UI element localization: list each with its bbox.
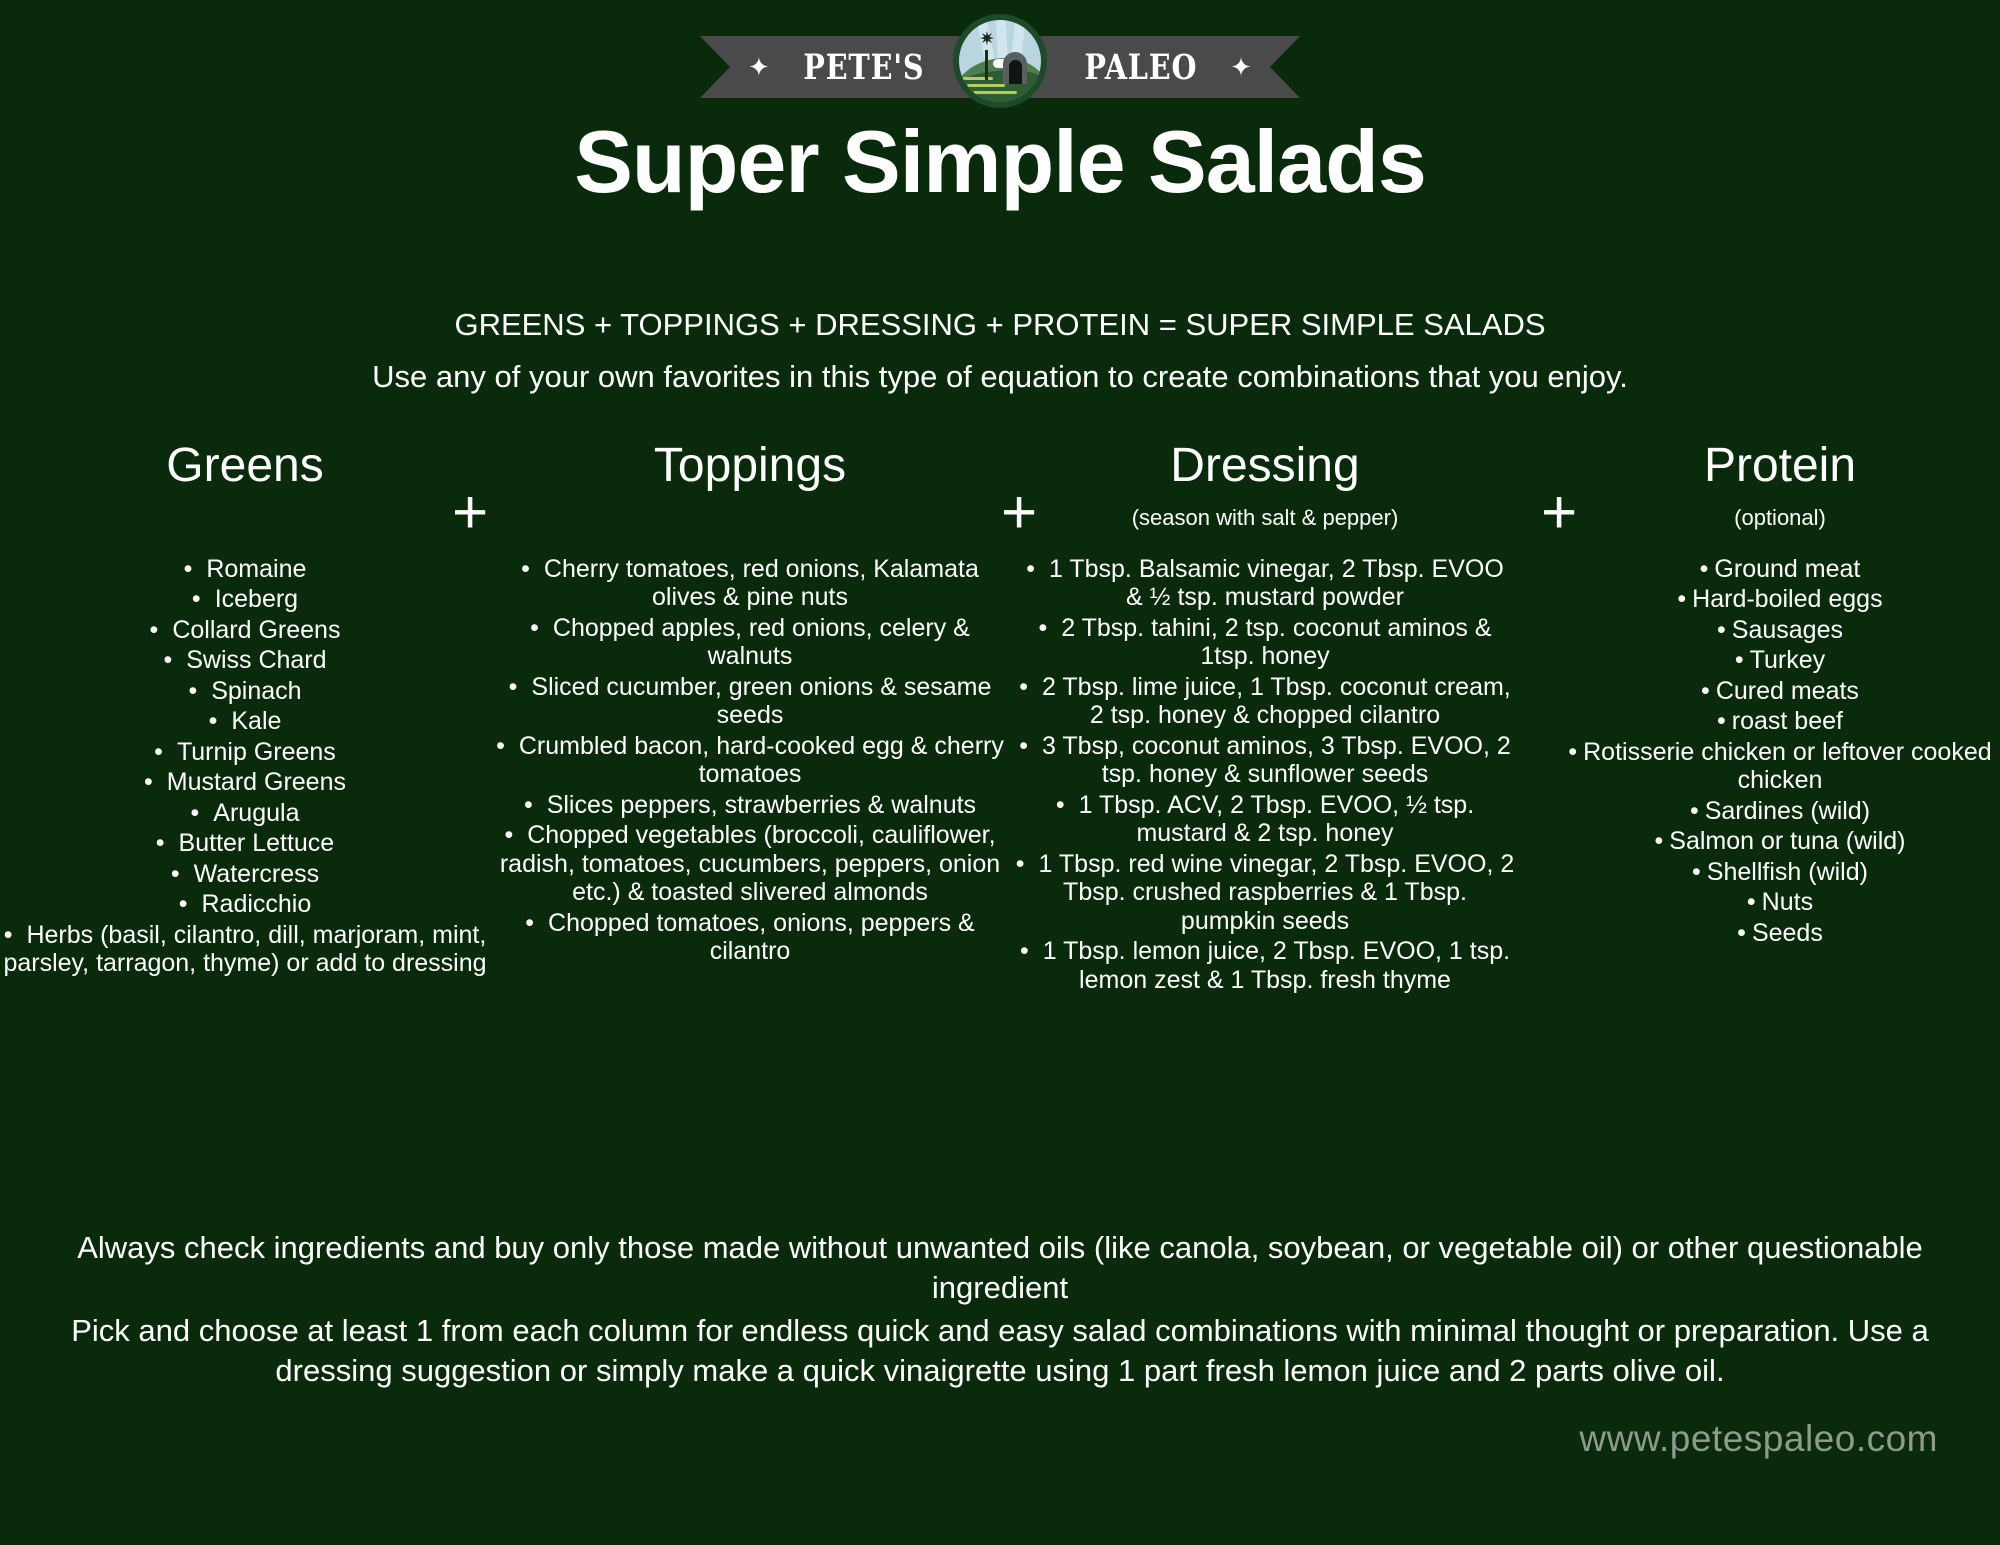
list-item: Mustard Greens xyxy=(0,768,490,797)
list-item: Sardines (wild) xyxy=(1560,797,2000,826)
list-item: Hard-boiled eggs xyxy=(1560,585,2000,614)
salad-infographic-page: ✦ PETE'S PALEO ✦ ✷ Super Simpl xyxy=(0,0,2000,1545)
footer-line-2: Pick and choose at least 1 from each col… xyxy=(40,1311,1960,1392)
page-title: Super Simple Salads xyxy=(0,116,2000,208)
column-subheading-toppings xyxy=(495,504,1005,533)
list-greens: Romaine Iceberg Collard Greens Swiss Cha… xyxy=(0,555,490,978)
column-heading-greens: Greens xyxy=(0,440,490,492)
column-heading-protein: Protein xyxy=(1560,440,2000,492)
list-item: 2 Tbsp. lime juice, 1 Tbsp. coconut crea… xyxy=(1015,673,1515,730)
list-item: Turnip Greens xyxy=(0,738,490,767)
list-item: Watercress xyxy=(0,860,490,889)
list-item: Cured meats xyxy=(1560,677,2000,706)
list-item: Collard Greens xyxy=(0,616,490,645)
list-item: roast beef xyxy=(1560,707,2000,736)
list-item: Butter Lettuce xyxy=(0,829,490,858)
list-item: Iceberg xyxy=(0,585,490,614)
star-left-icon: ✦ xyxy=(748,54,770,80)
column-subheading-dressing: (season with salt & pepper) xyxy=(1015,504,1515,533)
list-item: Seeds xyxy=(1560,919,2000,948)
column-heading-toppings: Toppings xyxy=(495,440,1005,492)
list-item: 1 Tbsp. lemon juice, 2 Tbsp. EVOO, 1 tsp… xyxy=(1015,937,1515,994)
list-item: Chopped vegetables (broccoli, cauliflowe… xyxy=(495,821,1005,907)
list-item: Shellfish (wild) xyxy=(1560,858,2000,887)
column-subheading-greens xyxy=(0,504,490,533)
list-item: Rotisserie chicken or leftover cooked ch… xyxy=(1560,738,2000,795)
column-greens: Greens Romaine Iceberg Collard Greens Sw… xyxy=(0,440,490,980)
ingredient-columns: Greens Romaine Iceberg Collard Greens Sw… xyxy=(0,440,2000,1160)
instruction-text: Use any of your own favorites in this ty… xyxy=(0,357,2000,397)
list-item: Kale xyxy=(0,707,490,736)
formula-equation: GREENS + TOPPINGS + DRESSING + PROTEIN =… xyxy=(0,305,2000,345)
brand-word-petes: PETE'S xyxy=(803,50,924,85)
list-item: Radicchio xyxy=(0,890,490,919)
column-heading-dressing: Dressing xyxy=(1015,440,1515,492)
column-protein: Protein (optional) Ground meat Hard-boil… xyxy=(1560,440,2000,949)
petes-paleo-logo: ✦ PETE'S PALEO ✦ ✷ xyxy=(700,14,1300,108)
list-protein: Ground meat Hard-boiled eggs Sausages Tu… xyxy=(1560,555,2000,948)
list-item: Romaine xyxy=(0,555,490,584)
list-item: 3 Tbsp, coconut aminos, 3 Tbsp. EVOO, 2 … xyxy=(1015,732,1515,789)
website-watermark: www.petespaleo.com xyxy=(1579,1420,1938,1457)
list-item: Nuts xyxy=(1560,888,2000,917)
star-right-icon: ✦ xyxy=(1230,54,1252,80)
list-toppings: Cherry tomatoes, red onions, Kalamata ol… xyxy=(495,555,1005,966)
farm-emblem-icon: ✷ xyxy=(953,14,1047,108)
list-item: 2 Tbsp. tahini, 2 tsp. coconut aminos & … xyxy=(1015,614,1515,671)
brand-word-paleo: PALEO xyxy=(1085,50,1198,85)
list-item: Arugula xyxy=(0,799,490,828)
list-item: Slices peppers, strawberries & walnuts xyxy=(495,791,1005,820)
footer-notes: Always check ingredients and buy only th… xyxy=(40,1228,1960,1393)
list-item: Swiss Chard xyxy=(0,646,490,675)
column-toppings: Toppings Cherry tomatoes, red onions, Ka… xyxy=(495,440,1005,968)
list-item: 1 Tbsp. ACV, 2 Tbsp. EVOO, ½ tsp. mustar… xyxy=(1015,791,1515,848)
list-item: Chopped tomatoes, onions, peppers & cila… xyxy=(495,909,1005,966)
list-item: Chopped apples, red onions, celery & wal… xyxy=(495,614,1005,671)
footer-line-1: Always check ingredients and buy only th… xyxy=(40,1228,1960,1309)
list-item: Sliced cucumber, green onions & sesame s… xyxy=(495,673,1005,730)
list-item: Ground meat xyxy=(1560,555,2000,584)
list-item: 1 Tbsp. Balsamic vinegar, 2 Tbsp. EVOO &… xyxy=(1015,555,1515,612)
list-item: Crumbled bacon, hard-cooked egg & cherry… xyxy=(495,732,1005,789)
column-subheading-protein: (optional) xyxy=(1560,504,2000,533)
list-item: Herbs (basil, cilantro, dill, marjoram, … xyxy=(0,921,490,978)
list-item: Cherry tomatoes, red onions, Kalamata ol… xyxy=(495,555,1005,612)
list-item: Spinach xyxy=(0,677,490,706)
column-dressing: Dressing (season with salt & pepper) 1 T… xyxy=(1015,440,1515,996)
list-dressing: 1 Tbsp. Balsamic vinegar, 2 Tbsp. EVOO &… xyxy=(1015,555,1515,995)
list-item: Sausages xyxy=(1560,616,2000,645)
list-item: 1 Tbsp. red wine vinegar, 2 Tbsp. EVOO, … xyxy=(1015,850,1515,936)
list-item: Salmon or tuna (wild) xyxy=(1560,827,2000,856)
list-item: Turkey xyxy=(1560,646,2000,675)
